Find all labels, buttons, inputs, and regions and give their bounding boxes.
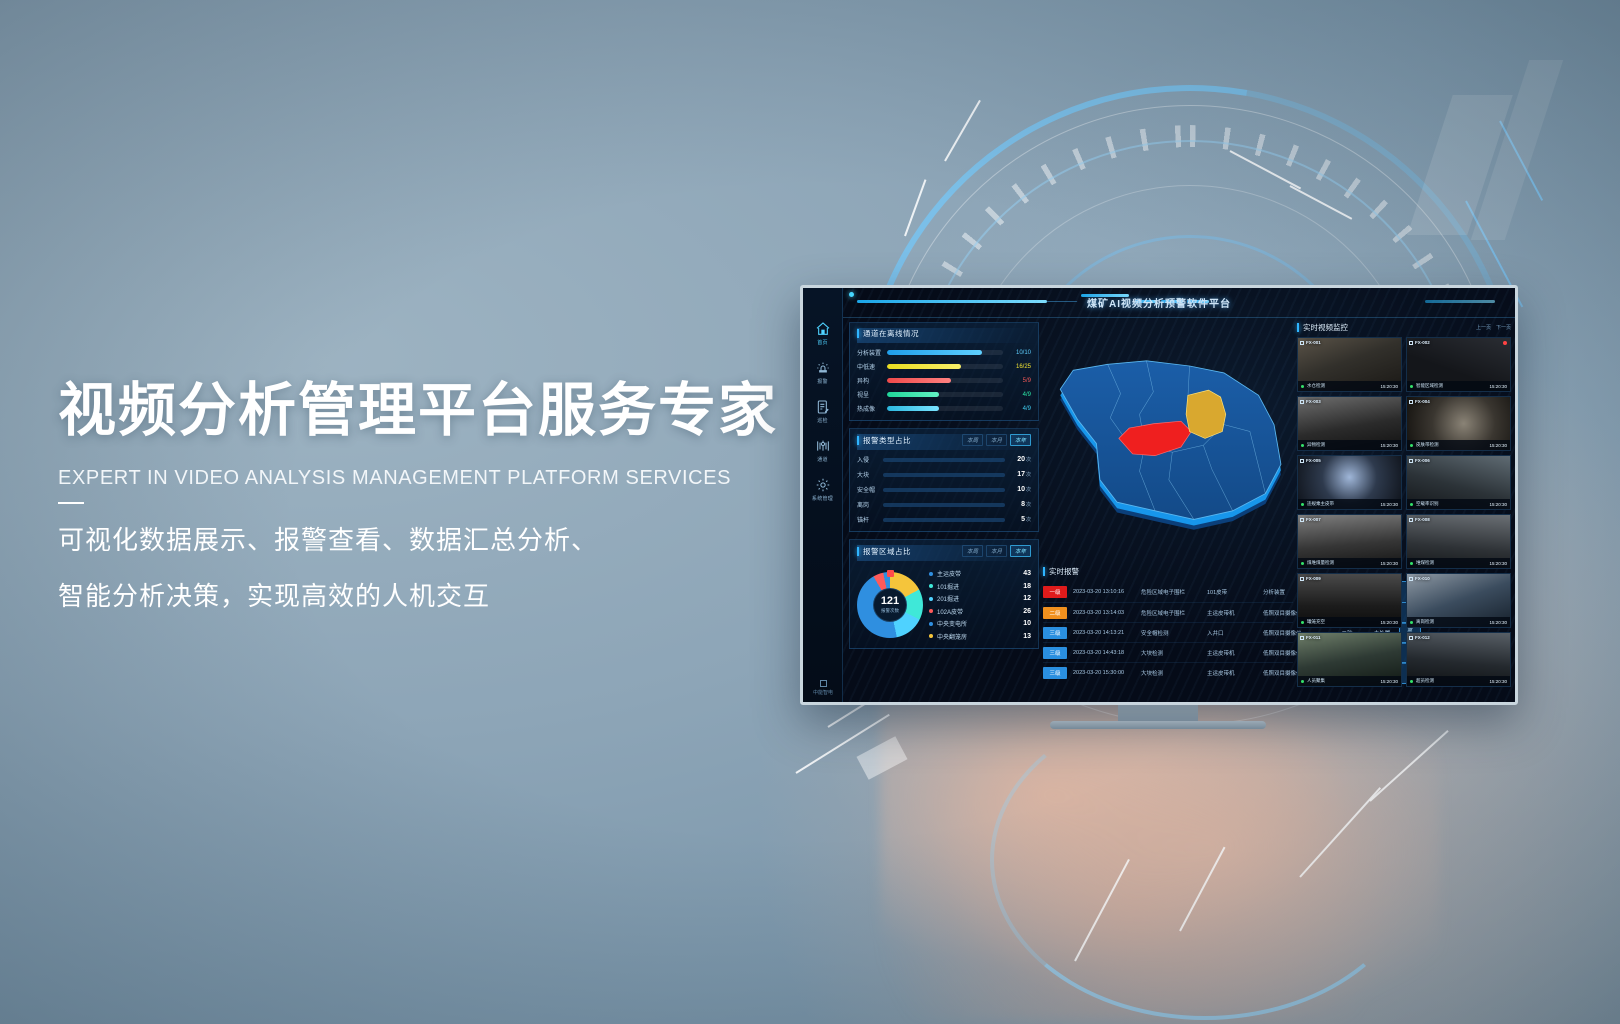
donut-chart: 121 报警次数 [857,572,923,638]
video-tile[interactable]: FX-006 空载率识别15:20:30 [1406,455,1511,510]
camera-name: 煤堆煤量检测 [1307,560,1380,566]
camera-time: 15:20:30 [1380,502,1398,507]
legend-value: 18 [1023,583,1031,590]
video-tile[interactable]: FX-007 煤堆煤量检测15:20:30 [1297,514,1402,569]
camera-icon [1300,459,1304,463]
alarm-time: 2023-03-20 14:43:18 [1073,650,1141,656]
camera-name: 离岗检测 [1416,619,1489,625]
hero-copy: 视频分析管理平台服务专家 EXPERT IN VIDEO ANALYSIS MA… [58,378,818,616]
status-dot-icon [1301,680,1304,683]
province-map[interactable] [1043,322,1293,560]
video-footer: 皮肤带检测15:20:30 [1407,440,1510,450]
video-monitor-column: 实时视频监控 上一页 下一页 FX-001 水仓检测15:20:30 FX-00… [1297,322,1511,694]
legend-label: 中央翻笼房 [937,632,1023,641]
channel-value: 10/10 [1003,350,1031,356]
status-dot-icon [1301,444,1304,447]
channel-bar-track [887,378,1003,383]
camera-name: 水仓检测 [1307,383,1380,389]
next-page-button[interactable]: 下一页 [1496,324,1511,331]
camera-name: 罐笼充空 [1307,619,1380,625]
camera-id: FX-010 [1409,576,1430,581]
channel-bar-fill [887,406,939,411]
video-tile[interactable]: FX-003 异物检测15:20:30 [1297,396,1402,451]
camera-id: FX-011 [1300,635,1321,640]
sidebar-item-channel[interactable]: 通道 [803,429,842,468]
prev-page-button[interactable]: 上一页 [1476,324,1491,331]
video-panel-header: 实时视频监控 上一页 下一页 [1297,322,1511,333]
camera-id: FX-009 [1300,576,1321,581]
status-dot-icon [1410,621,1413,624]
camera-icon [1409,577,1413,581]
alarm-type-bar-track [883,518,1005,522]
sidebar-item-inspection[interactable]: 巡检 [803,390,842,429]
alarm-type-value: 20次 [1005,456,1031,463]
camera-time: 15:20:30 [1489,443,1507,448]
legend-dot-icon [929,572,933,576]
sidebar-label-alarm: 报警 [817,379,828,385]
left-stats-column: 通道在离线情况 分析装置 10/10 中低速 16/25 异构 5/9 视呈 4… [849,322,1039,694]
camera-name: 人员聚集 [1307,678,1380,684]
channel-value: 4/9 [1003,392,1031,398]
video-footer: 离岗检测15:20:30 [1407,617,1510,627]
header-accent-bar-right [1425,300,1495,303]
center-column: 实时报警 一级 2023-03-20 13:10:16 危险区域电子围栏 101… [1043,322,1293,694]
video-tile[interactable]: FX-009 罐笼充空15:20:30 [1297,573,1402,628]
page-title: 视频分析管理平台服务专家 [58,378,818,445]
alarm-type: 危险区域电子围栏 [1141,588,1207,596]
video-footer: 水仓检测15:20:30 [1298,381,1401,391]
camera-time: 15:20:30 [1380,679,1398,684]
alarm-location: 主运皮带机 [1207,669,1263,677]
camera-id: FX-004 [1409,399,1430,404]
channel-label: 热成像 [857,404,887,413]
donut-marker-icon [887,570,894,577]
channel-row: 视呈 4/9 [857,390,1031,399]
camera-id: FX-003 [1300,399,1321,404]
camera-icon [1300,577,1304,581]
video-footer: 罐笼充空15:20:30 [1298,617,1401,627]
channel-row: 异构 5/9 [857,376,1031,385]
camera-name: 空载率识别 [1416,501,1489,507]
channel-value: 4/9 [1003,406,1031,412]
alarm-type: 大块检测 [1141,649,1207,657]
status-dot-icon [1410,680,1413,683]
province-map-svg [1043,322,1293,560]
channel-bar-track [887,350,1003,355]
camera-time: 15:20:30 [1380,443,1398,448]
camera-icon [1300,341,1304,345]
status-dot-icon [1301,503,1304,506]
video-footer: 空载率识别15:20:30 [1407,499,1510,509]
table-row[interactable]: 二级 2023-03-20 13:14:03 危险区域电子围栏 主运皮带机 低照… [1043,602,1293,622]
channel-bar-track [887,364,1003,369]
alarm-type-panel: 报警类型占比 本周 本月 本年 入侵 20次 大块 17次 安全帽 1 [849,428,1039,532]
hero-line-1: 可视化数据展示、报警查看、数据汇总分析、 [58,520,818,560]
table-row[interactable]: 一级 2023-03-20 13:10:16 危险区域电子围栏 101皮带 分析… [1043,582,1293,602]
camera-name: 异物检测 [1307,442,1380,448]
region-tab-week[interactable]: 本周 [962,545,983,557]
alarm-type-label: 离岗 [857,500,883,509]
camera-time: 15:20:30 [1489,384,1507,389]
dashboard-screen: 煤矿AI视频分析预警软件平台 首页 报警 巡检 通道 [803,288,1515,702]
camera-time: 15:20:30 [1380,384,1398,389]
tab-year[interactable]: 本年 [1010,434,1031,446]
sidebar-label-home: 首页 [817,340,828,346]
legend-value: 10 [1023,620,1031,627]
sidebar-item-home[interactable]: 首页 [803,312,842,351]
alarm-type-label: 锚杆 [857,515,883,524]
channel-status-panel: 通道在离线情况 分析装置 10/10 中低速 16/25 异构 5/9 视呈 4… [849,322,1039,421]
alarm-time: 2023-03-20 13:14:03 [1073,610,1141,616]
alarm-icon [815,360,831,376]
camera-icon [1300,636,1304,640]
camera-time: 15:20:30 [1489,679,1507,684]
camera-id: FX-001 [1300,340,1321,345]
home-icon [815,321,831,337]
legend-value: 13 [1023,633,1031,640]
alarm-type: 大块检测 [1141,669,1207,677]
alarm-time: 2023-03-20 14:13:21 [1073,630,1141,636]
camera-name: 智能区域检测 [1416,383,1489,389]
alarm-type-label: 大块 [857,470,883,479]
channel-bar-fill [887,378,951,383]
tab-week[interactable]: 本周 [962,434,983,446]
camera-icon [1409,341,1413,345]
status-dot-icon [1301,562,1304,565]
video-pager: 上一页 下一页 [1476,324,1511,331]
sidebar-label-system: 系统管理 [812,496,833,502]
alarm-location: 101皮带 [1207,588,1263,596]
monitor-stand-base [1050,721,1266,729]
donut-caption: 报警次数 [881,608,899,614]
status-dot-icon [1410,503,1413,506]
alarm-level-badge: 一级 [1043,586,1067,598]
inspection-icon [815,399,831,415]
table-row[interactable]: 三级 2023-03-20 14:43:18 大块检测 主运皮带机 低照双目摄像… [1043,642,1293,662]
legend-row: 主运皮带43 [929,569,1031,578]
video-footer: 人员聚集15:20:30 [1298,676,1401,686]
channel-value: 5/9 [1003,378,1031,384]
status-dot-icon [1410,562,1413,565]
region-tab-month[interactable]: 本月 [986,545,1007,557]
legend-label: 主运皮带 [937,569,1023,578]
alarm-region-tabs: 本周 本月 本年 [962,545,1031,557]
alarm-level-badge: 三级 [1043,647,1067,659]
alarm-location: 入井口 [1207,629,1263,637]
video-tile[interactable]: FX-011 人员聚集15:20:30 [1297,632,1402,687]
video-tile[interactable]: FX-008 堆煤检测15:20:30 [1406,514,1511,569]
alarm-type-title: 报警类型占比 [857,435,911,446]
alarm-region-panel: 报警区域占比 本周 本月 本年 121 报警次数 主运皮带43 10 [849,539,1039,649]
channel-bar-fill [887,350,982,355]
camera-name: 皮肤带检测 [1416,442,1489,448]
camera-icon [1300,518,1304,522]
alarm-type-label: 安全帽 [857,485,883,494]
tab-month[interactable]: 本月 [986,434,1007,446]
legend-row: 中央变电所10 [929,619,1031,628]
camera-time: 15:20:30 [1380,620,1398,625]
donut-center: 121 报警次数 [873,588,907,622]
video-tile[interactable]: FX-010 离岗检测15:20:30 [1406,573,1511,628]
video-footer: 堆煤检测15:20:30 [1407,558,1510,568]
dashboard-title: 煤矿AI视频分析预警软件平台 [803,295,1515,310]
video-tile[interactable]: FX-004 皮肤带检测15:20:30 [1406,396,1511,451]
legend-dot-icon [929,622,933,626]
alarm-type: 危险区域电子围栏 [1141,609,1207,617]
camera-id: FX-008 [1409,517,1430,522]
camera-icon [1409,636,1413,640]
alarm-type-row: 入侵 20次 [857,455,1031,464]
channel-status-title: 通道在离线情况 [857,328,919,339]
status-dot-icon [1301,621,1304,624]
alarm-time: 2023-03-20 13:10:16 [1073,589,1141,595]
status-dot-icon [1301,385,1304,388]
table-row[interactable]: 三级 2023-03-20 15:30:00 大块检测 主运皮带机 低照双目摄像… [1043,662,1293,682]
alarm-region-chart: 121 报警次数 主运皮带43 101掘进18 201掘进12 102A皮带26… [857,566,1031,641]
legend-row: 101掘进18 [929,582,1031,591]
alarm-level-badge: 三级 [1043,667,1067,679]
alarm-type-row: 安全帽 10次 [857,485,1031,494]
alarm-type-bar-track [883,458,1005,462]
alarm-level-badge: 三级 [1043,627,1067,639]
video-footer: 超员检测15:20:30 [1407,676,1510,686]
video-panel-title: 实时视频监控 [1297,322,1348,333]
sidebar-label-inspection: 巡检 [817,418,828,424]
legend-label: 101掘进 [937,582,1023,591]
camera-time: 15:20:30 [1489,502,1507,507]
donut-total: 121 [881,596,899,607]
alarm-location: 主运皮带机 [1207,649,1263,657]
alarm-type-bar-track [883,473,1005,477]
channel-value: 16/25 [1003,364,1031,370]
legend-value: 12 [1023,595,1031,602]
alarm-table-title: 实时报警 [1043,566,1293,577]
alarm-type-row: 锚杆 5次 [857,515,1031,524]
channel-label: 视呈 [857,390,887,399]
sidebar-item-system[interactable]: 系统管理 [803,468,842,507]
camera-id: FX-005 [1300,458,1321,463]
legend-label: 中央变电所 [937,619,1023,628]
channel-label: 中低速 [857,362,887,371]
alarm-region-header: 报警区域占比 本周 本月 本年 [857,545,1031,561]
channel-row: 热成像 4/9 [857,404,1031,413]
channel-bar-fill [887,392,939,397]
alarm-type: 安全帽检测 [1141,629,1207,637]
legend-value: 43 [1023,570,1031,577]
alarm-location: 主运皮带机 [1207,609,1263,617]
video-footer: 智能区域检测15:20:30 [1407,381,1510,391]
camera-icon [1409,400,1413,404]
channel-row: 分析装置 10/10 [857,348,1031,357]
camera-icon [1300,400,1304,404]
sidebar: 首页 报警 巡检 通道 系统管理 中能智电 [803,288,843,702]
camera-name: 超员检测 [1416,678,1489,684]
camera-icon [1409,459,1413,463]
legend-dot-icon [929,634,933,638]
alarm-type-row: 大块 17次 [857,470,1031,479]
legend-dot-icon [929,597,933,601]
alarm-time: 2023-03-20 15:30:00 [1073,670,1141,676]
sidebar-item-alarm[interactable]: 报警 [803,351,842,390]
monitor-bezel: 煤矿AI视频分析预警软件平台 首页 报警 巡检 通道 [800,285,1518,705]
camera-time: 15:20:30 [1489,620,1507,625]
alarm-type-value: 17次 [1005,471,1031,478]
camera-id: FX-007 [1300,517,1321,522]
camera-time: 15:20:30 [1380,561,1398,566]
hero-line-2: 智能分析决策，实现高效的人机交互 [58,576,818,616]
channel-label: 分析装置 [857,348,887,357]
corner-brand: 中能智电 [803,680,843,696]
brand-mark-icon [820,680,827,687]
legend-row: 201掘进12 [929,594,1031,603]
alarm-type-header: 报警类型占比 本周 本月 本年 [857,434,1031,450]
camera-icon [1409,518,1413,522]
video-tile[interactable]: FX-001 水仓检测15:20:30 [1297,337,1402,392]
camera-name: 违规乘主皮带 [1307,501,1380,507]
camera-id: FX-012 [1409,635,1430,640]
map-region-highlight-yellow[interactable] [1186,390,1226,438]
realtime-alarm-table: 实时报警 一级 2023-03-20 13:10:16 危险区域电子围栏 101… [1043,566,1293,694]
legend-row: 中央翻笼房13 [929,632,1031,641]
legend-dot-icon [929,584,933,588]
video-tile[interactable]: FX-005 违规乘主皮带15:20:30 [1297,455,1402,510]
dashboard-header: 煤矿AI视频分析预警软件平台 [803,288,1515,318]
video-footer: 异物检测15:20:30 [1298,440,1401,450]
legend-row: 102A皮带26 [929,607,1031,616]
gear-icon [815,477,831,493]
status-dot-icon [1410,444,1413,447]
donut-legend: 主运皮带43 101掘进18 201掘进12 102A皮带26 中央变电所10 … [929,569,1031,641]
camera-time: 15:20:30 [1489,561,1507,566]
alarm-level-badge: 二级 [1043,607,1067,619]
channel-bar-fill [887,364,961,369]
video-tile[interactable]: FX-002 智能区域检测15:20:30 [1406,337,1511,392]
legend-value: 26 [1023,608,1031,615]
channel-status-header: 通道在离线情况 [857,328,1031,343]
table-row[interactable]: 三级 2023-03-20 14:13:21 安全帽检测 入井口 低照双目摄像仪… [1043,622,1293,642]
alarm-type-value: 10次 [1005,486,1031,493]
alarm-type-value: 8次 [1005,501,1031,508]
alarm-region-title: 报警区域占比 [857,546,911,557]
video-tile[interactable]: FX-012 超员检测15:20:30 [1406,632,1511,687]
camera-id: FX-006 [1409,458,1430,463]
legend-dot-icon [929,609,933,613]
hero-divider [58,502,84,504]
camera-id: FX-002 [1409,340,1430,345]
channel-bar-track [887,392,1003,397]
sidebar-label-channel: 通道 [817,457,828,463]
legend-label: 102A皮带 [937,607,1023,616]
alarm-type-tabs: 本周 本月 本年 [962,434,1031,446]
video-footer: 煤堆煤量检测15:20:30 [1298,558,1401,568]
status-dot-icon [1410,385,1413,388]
alarm-type-bar-track [883,503,1005,507]
legend-label: 201掘进 [937,594,1023,603]
channel-label: 异构 [857,376,887,385]
video-footer: 违规乘主皮带15:20:30 [1298,499,1401,509]
alarm-type-value: 5次 [1005,516,1031,523]
channel-row: 中低速 16/25 [857,362,1031,371]
region-tab-year[interactable]: 本年 [1010,545,1031,557]
channel-bar-track [887,406,1003,411]
camera-name: 堆煤检测 [1416,560,1489,566]
channel-icon [815,438,831,454]
alarm-type-label: 入侵 [857,455,883,464]
alarm-type-row: 离岗 8次 [857,500,1031,509]
hero-subhead: EXPERT IN VIDEO ANALYSIS MANAGEMENT PLAT… [58,467,818,490]
video-grid: FX-001 水仓检测15:20:30 FX-002 智能区域检测15:20:3… [1297,337,1511,687]
alarm-type-bar-track [883,488,1005,492]
corner-brand-label: 中能智电 [813,690,833,696]
recording-dot-icon [1503,341,1507,345]
